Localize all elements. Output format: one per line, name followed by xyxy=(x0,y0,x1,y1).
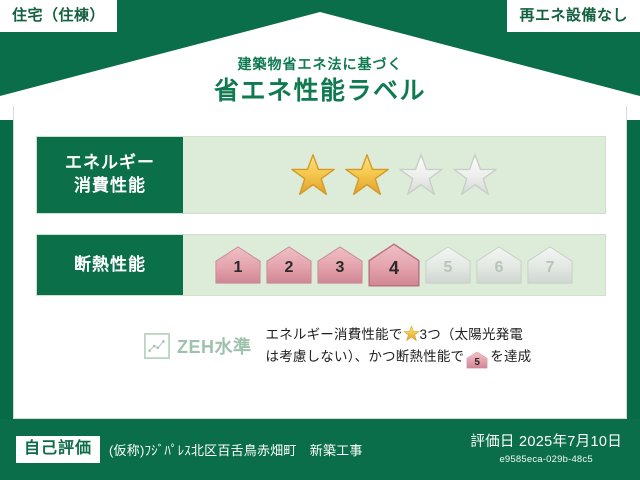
project-name: (仮称)ﾌｼﾞﾊﾟﾚｽ北区百舌鳥赤畑町 新築工事 xyxy=(109,440,363,459)
note-text-part1: エネルギー消費性能で xyxy=(266,327,403,342)
insulation-level-badge: 4 xyxy=(367,242,421,288)
tag-building-type: 住宅（住棟） xyxy=(0,0,117,32)
insulation-level-number: 4 xyxy=(389,259,399,288)
footer-bar: 自己評価 (仮称)ﾌｼﾞﾊﾟﾚｽ北区百舌鳥赤畑町 新築工事 評価日 2025年7… xyxy=(0,419,640,480)
insulation-level-number: 7 xyxy=(546,260,555,285)
label-card: エネルギー 消費性能 断熱性能 1234567 xyxy=(13,106,627,419)
row-energy-label: エネルギー 消費性能 xyxy=(37,137,183,213)
footer-left-group: 自己評価 (仮称)ﾌｼﾞﾊﾟﾚｽ北区百舌鳥赤畑町 新築工事 xyxy=(0,436,470,463)
insulation-level-scale: 1234567 xyxy=(183,235,605,295)
note-text-part4: を達成 xyxy=(490,349,531,364)
page-title: 建築物省エネ法に基づく 省エネ性能ラベル xyxy=(0,56,640,109)
insulation-level-number: 2 xyxy=(285,260,294,285)
row-insulation-label-text: 断熱性能 xyxy=(74,254,146,277)
zeh-label: ZEH水準 xyxy=(177,333,252,359)
footer-right-group: 評価日 2025年7月10日 e9585eca-029b-48c5 xyxy=(470,434,640,465)
evaluation-date: 評価日 2025年7月10日 xyxy=(470,434,622,451)
star-filled-icon xyxy=(290,152,336,198)
inline-level-number: 5 xyxy=(466,351,488,372)
row-energy-label-line1: エネルギー xyxy=(65,152,155,175)
zeh-note: ZEH水準 エネルギー消費性能で3つ（太陽光発電 は考慮しない）、かつ断熱性能で… xyxy=(36,324,606,369)
insulation-level-badge: 3 xyxy=(316,245,364,285)
insulation-level-number: 3 xyxy=(336,260,345,285)
insulation-level-number: 5 xyxy=(444,260,453,285)
self-evaluation-badge: 自己評価 xyxy=(16,436,100,463)
row-energy-performance: エネルギー 消費性能 xyxy=(36,136,606,214)
title-main: 省エネ性能ラベル xyxy=(0,75,640,109)
note-text-part2: 3つ（太陽光発電 xyxy=(420,327,524,342)
row-insulation-performance: 断熱性能 1234567 xyxy=(36,234,606,296)
chart-dots-icon xyxy=(144,333,170,359)
tag-renewable-energy: 再エネ設備なし xyxy=(507,0,640,32)
inline-star-icon xyxy=(403,327,420,342)
star-empty-icon xyxy=(452,152,498,198)
insulation-level-badge: 2 xyxy=(265,245,313,285)
star-filled-icon xyxy=(344,152,390,198)
inline-level-badge: 5 xyxy=(466,351,488,369)
zeh-standard-mark: ZEH水準 xyxy=(144,333,252,359)
zeh-description: エネルギー消費性能で3つ（太陽光発電 は考慮しない）、かつ断熱性能で5を達成 xyxy=(266,324,532,369)
document-id: e9585eca-029b-48c5 xyxy=(470,454,622,465)
note-text-part3: は考慮しない）、かつ断熱性能で xyxy=(266,349,465,364)
insulation-level-badge: 1 xyxy=(214,245,262,285)
star-empty-icon xyxy=(398,152,444,198)
insulation-level-badge: 7 xyxy=(526,245,574,285)
insulation-level-badge: 6 xyxy=(475,245,523,285)
row-insulation-label: 断熱性能 xyxy=(37,235,183,295)
insulation-level-number: 6 xyxy=(495,260,504,285)
energy-performance-label: 住宅（住棟） 再エネ設備なし 建築物省エネ法に基づく 省エネ性能ラベル エネルギ… xyxy=(0,0,640,480)
title-subtitle: 建築物省エネ法に基づく xyxy=(0,56,640,73)
insulation-level-badge: 5 xyxy=(424,245,472,285)
insulation-level-number: 1 xyxy=(234,260,243,285)
row-energy-label-line2: 消費性能 xyxy=(74,175,146,198)
star-rating xyxy=(183,137,605,213)
